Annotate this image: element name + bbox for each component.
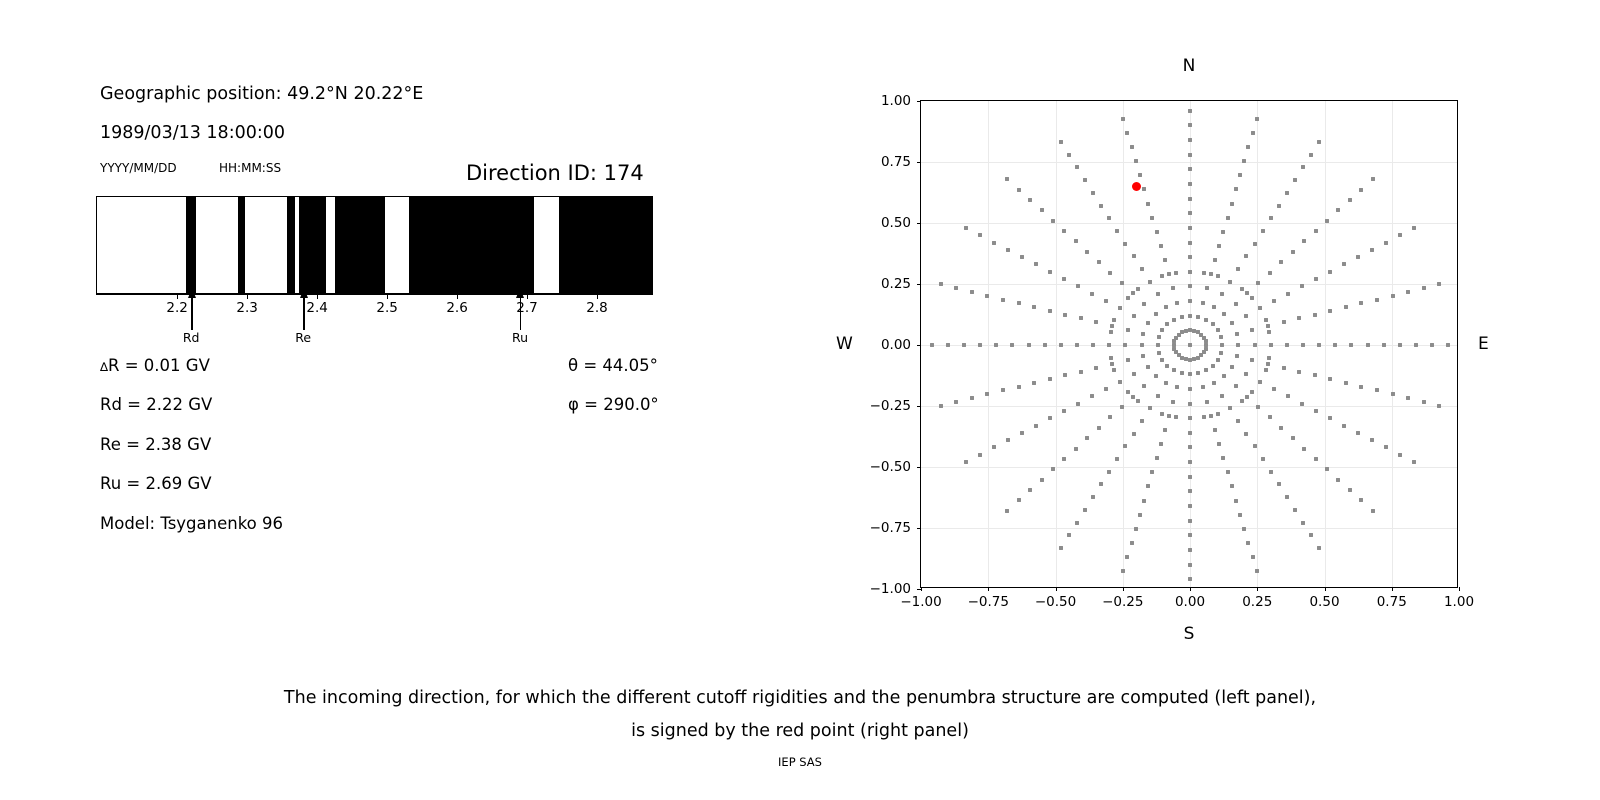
caption-line-1: The incoming direction, for which the di… xyxy=(0,682,1600,715)
direction-point xyxy=(1333,343,1337,347)
direction-point xyxy=(1134,159,1138,163)
direction-point xyxy=(1051,219,1055,223)
direction-point xyxy=(1141,332,1145,336)
direction-point xyxy=(1118,306,1122,310)
footer-credit: IEP SAS xyxy=(0,755,1600,769)
direction-point xyxy=(1142,302,1146,306)
direction-point xyxy=(1063,373,1067,377)
direction-point xyxy=(1264,368,1268,372)
y-axis-tick-label: −0.75 xyxy=(870,520,911,536)
direction-point xyxy=(1184,357,1188,361)
direction-point xyxy=(1005,177,1009,181)
y-axis-tick xyxy=(917,223,921,224)
direction-point xyxy=(1109,356,1113,360)
direction-point xyxy=(1366,343,1370,347)
direction-point xyxy=(1126,296,1130,300)
direction-point xyxy=(1156,343,1160,347)
direction-point xyxy=(1221,456,1225,460)
direction-point xyxy=(1115,229,1119,233)
direction-id-label: Direction ID: 174 xyxy=(466,161,644,185)
direction-point xyxy=(1269,216,1273,220)
penumbra-forbidden-band xyxy=(559,197,653,293)
direction-point xyxy=(1267,330,1271,334)
direction-point xyxy=(1230,484,1234,488)
direction-point xyxy=(1317,546,1321,550)
direction-point xyxy=(978,343,982,347)
direction-point xyxy=(1090,394,1094,398)
direction-point xyxy=(1132,432,1136,436)
direction-point xyxy=(1184,329,1188,333)
direction-point xyxy=(1156,394,1160,398)
direction-point xyxy=(1297,316,1301,320)
direction-point xyxy=(1091,495,1095,499)
axis-tick xyxy=(177,294,178,299)
y-axis-tick-label: 0.75 xyxy=(881,154,911,170)
direction-point xyxy=(1422,286,1426,290)
direction-point xyxy=(1167,272,1171,276)
direction-point xyxy=(1258,380,1262,384)
direction-point xyxy=(1371,177,1375,181)
direction-point xyxy=(1255,569,1259,573)
direction-point xyxy=(1437,404,1441,408)
theta-readout: θ = 44.05° xyxy=(568,356,658,375)
direction-point xyxy=(1261,229,1265,233)
direction-point xyxy=(1172,368,1176,372)
direction-point xyxy=(1226,470,1230,474)
figure-caption: The incoming direction, for which the di… xyxy=(0,682,1600,748)
direction-point xyxy=(1188,358,1192,362)
direction-point xyxy=(1212,305,1216,309)
axis-tick xyxy=(597,294,598,299)
direction-point xyxy=(1010,343,1014,347)
direction-point xyxy=(1314,457,1318,461)
direction-point xyxy=(1188,445,1192,449)
y-axis-tick-label: 0.00 xyxy=(881,337,911,353)
direction-point xyxy=(1261,457,1265,461)
direction-point xyxy=(1160,412,1164,416)
selected-direction-point[interactable] xyxy=(1132,182,1141,191)
direction-point xyxy=(1097,260,1101,264)
direction-point xyxy=(1240,287,1244,291)
direction-point xyxy=(1219,351,1223,355)
direction-point xyxy=(1205,400,1209,404)
direction-point xyxy=(1017,498,1021,502)
direction-point xyxy=(1136,287,1140,291)
direction-scatter-plot: −1.00−0.75−0.50−0.250.000.250.500.751.00… xyxy=(920,100,1458,588)
direction-point xyxy=(1371,509,1375,513)
direction-point xyxy=(1091,343,1095,347)
direction-point xyxy=(1251,131,1255,135)
y-axis-tick xyxy=(917,101,921,102)
direction-point xyxy=(1359,385,1363,389)
direction-point xyxy=(962,343,966,347)
direction-point xyxy=(1140,419,1144,423)
direction-point xyxy=(1126,328,1130,332)
axis-tick-label: 2.3 xyxy=(236,300,257,316)
direction-point xyxy=(1301,521,1305,525)
x-axis-tick-label: −0.50 xyxy=(1035,594,1076,610)
direction-point xyxy=(1188,182,1192,186)
direction-point xyxy=(1313,373,1317,377)
direction-point xyxy=(1192,357,1196,361)
direction-point xyxy=(1216,274,1220,278)
geographic-position-label: Geographic position: 49.2°N 20.22°E xyxy=(100,84,423,104)
direction-point xyxy=(1062,457,1066,461)
direction-point xyxy=(1148,280,1152,284)
direction-point xyxy=(1430,343,1434,347)
direction-point xyxy=(1172,347,1176,351)
date-format-hint: YYYY/MM/DD xyxy=(100,161,177,175)
datetime-label: 1989/03/13 18:00:00 xyxy=(100,123,285,143)
direction-point xyxy=(1062,229,1066,233)
x-axis-tick-label: 0.00 xyxy=(1175,594,1205,610)
direction-point xyxy=(1188,372,1192,376)
direction-point xyxy=(1285,495,1289,499)
x-axis-tick xyxy=(1392,587,1393,591)
direction-point xyxy=(1314,409,1318,413)
y-axis-tick-label: −1.00 xyxy=(870,581,911,597)
direction-point xyxy=(1188,519,1192,523)
direction-point xyxy=(964,226,968,230)
gridline-horizontal xyxy=(921,223,1457,224)
penumbra-bar xyxy=(96,196,653,294)
direction-point xyxy=(1006,438,1010,442)
direction-point xyxy=(1165,364,1169,368)
direction-point xyxy=(1188,167,1192,171)
direction-point xyxy=(1006,248,1010,252)
direction-point xyxy=(1132,372,1136,376)
gridline-vertical xyxy=(1325,101,1326,587)
direction-point xyxy=(1174,415,1178,419)
penumbra-forbidden-band xyxy=(186,197,196,293)
compass-east-label: E xyxy=(1478,334,1489,354)
direction-point xyxy=(1188,123,1192,127)
gridline-vertical xyxy=(1392,101,1393,587)
ru-readout: Ru = 2.69 GV xyxy=(100,474,212,493)
direction-point xyxy=(1094,320,1098,324)
direction-point xyxy=(1027,343,1031,347)
direction-point xyxy=(1211,364,1215,368)
direction-point xyxy=(1412,226,1416,230)
direction-point xyxy=(1017,301,1021,305)
direction-point xyxy=(1121,569,1125,573)
direction-point xyxy=(954,286,958,290)
direction-point xyxy=(1221,230,1225,234)
direction-point xyxy=(994,343,998,347)
direction-point xyxy=(1146,321,1150,325)
direction-point xyxy=(1180,315,1184,319)
direction-point xyxy=(1211,322,1215,326)
direction-point xyxy=(1076,284,1080,288)
time-format-hint: HH:MM:SS xyxy=(219,161,281,175)
gridline-vertical xyxy=(1056,101,1057,587)
direction-point xyxy=(1300,284,1304,288)
arrow-shaft xyxy=(303,296,304,330)
direction-point xyxy=(1285,343,1289,347)
direction-point xyxy=(1048,377,1052,381)
direction-point xyxy=(1188,475,1192,479)
direction-point xyxy=(1228,280,1232,284)
direction-point xyxy=(1059,546,1063,550)
delta-r-readout: ∆R = 0.01 GV xyxy=(100,356,210,375)
direction-point xyxy=(1134,527,1138,531)
direction-point xyxy=(1205,286,1209,290)
direction-point xyxy=(1155,456,1159,460)
direction-point xyxy=(1130,145,1134,149)
penumbra-forbidden-band xyxy=(409,197,534,293)
direction-point xyxy=(1342,262,1346,266)
direction-point xyxy=(1336,208,1340,212)
direction-point xyxy=(1048,416,1052,420)
direction-point xyxy=(1110,362,1114,366)
direction-point xyxy=(1253,343,1257,347)
direction-point xyxy=(1142,187,1146,191)
direction-point xyxy=(1220,394,1224,398)
direction-point xyxy=(1293,178,1297,182)
penumbra-forbidden-band xyxy=(287,197,295,293)
direction-point xyxy=(1164,305,1168,309)
x-axis-tick-label: 0.75 xyxy=(1377,594,1407,610)
direction-point xyxy=(1302,239,1306,243)
direction-point xyxy=(1142,499,1146,503)
direction-point xyxy=(1188,460,1192,464)
penumbra-forbidden-band xyxy=(335,197,385,293)
direction-point xyxy=(1272,299,1276,303)
direction-point xyxy=(1157,335,1161,339)
direction-point xyxy=(1146,202,1150,206)
axis-tick-label: 2.8 xyxy=(586,300,607,316)
direction-point xyxy=(1245,291,1249,295)
direction-point xyxy=(1236,419,1240,423)
gridline-vertical xyxy=(1257,101,1258,587)
direction-point xyxy=(1238,513,1242,517)
direction-point xyxy=(1309,153,1313,157)
direction-point xyxy=(1251,555,1255,559)
direction-point xyxy=(954,400,958,404)
direction-point xyxy=(1115,457,1119,461)
axis-tick-label: 2.4 xyxy=(306,300,327,316)
direction-point xyxy=(1212,381,1216,385)
direction-point xyxy=(1217,244,1221,248)
direction-point xyxy=(1359,301,1363,305)
direction-point xyxy=(1222,312,1226,316)
axis-tick xyxy=(387,294,388,299)
direction-point xyxy=(1382,343,1386,347)
direction-point xyxy=(1277,204,1281,208)
y-axis-tick xyxy=(917,528,921,529)
direction-point xyxy=(1348,198,1352,202)
direction-point xyxy=(1126,390,1130,394)
direction-point xyxy=(1422,400,1426,404)
direction-point xyxy=(1216,412,1220,416)
direction-point xyxy=(1091,191,1095,195)
direction-point xyxy=(1264,318,1268,322)
delta-r-value: R = 0.01 GV xyxy=(108,356,210,375)
direction-point xyxy=(1344,305,1348,309)
arrow-up-icon xyxy=(188,288,196,298)
direction-point xyxy=(1174,350,1178,354)
direction-point xyxy=(1020,431,1024,435)
direction-point xyxy=(985,392,989,396)
axis-tick-label: 2.6 xyxy=(446,300,467,316)
direction-point xyxy=(1032,305,1036,309)
x-axis-tick xyxy=(921,587,922,591)
direction-point xyxy=(1282,320,1286,324)
direction-point xyxy=(1268,415,1272,419)
direction-point xyxy=(1234,187,1238,191)
marker-label: Rd xyxy=(183,330,200,345)
direction-point xyxy=(1108,415,1112,419)
direction-point xyxy=(1272,387,1276,391)
direction-point xyxy=(1172,339,1176,343)
direction-point xyxy=(1188,402,1192,406)
direction-point xyxy=(1043,343,1047,347)
direction-point xyxy=(1188,533,1192,537)
direction-point xyxy=(1269,343,1273,347)
direction-point xyxy=(939,404,943,408)
direction-point xyxy=(1097,426,1101,430)
direction-point xyxy=(1107,470,1111,474)
direction-point xyxy=(1222,374,1226,378)
direction-point xyxy=(1160,328,1164,332)
direction-point xyxy=(1375,388,1379,392)
direction-point xyxy=(1226,216,1230,220)
direction-point xyxy=(1293,508,1297,512)
direction-point xyxy=(1246,145,1250,149)
direction-point xyxy=(1132,314,1136,318)
phi-readout: φ = 290.0° xyxy=(568,395,659,414)
direction-point xyxy=(1188,577,1192,581)
direction-point xyxy=(1123,444,1127,448)
direction-point xyxy=(1209,414,1213,418)
direction-point xyxy=(964,460,968,464)
direction-point xyxy=(1325,219,1329,223)
direction-point xyxy=(1356,255,1360,259)
direction-point xyxy=(1370,248,1374,252)
direction-point xyxy=(1314,277,1318,281)
direction-point xyxy=(1219,335,1223,339)
direction-point xyxy=(1141,354,1145,358)
direction-point xyxy=(1291,436,1295,440)
direction-point xyxy=(1175,301,1179,305)
direction-point xyxy=(1075,165,1079,169)
direction-point xyxy=(1406,396,1410,400)
direction-point xyxy=(1279,260,1283,264)
direction-point xyxy=(1256,281,1260,285)
marker-label: Ru xyxy=(512,330,528,345)
direction-point xyxy=(1291,250,1295,254)
direction-point xyxy=(1125,555,1129,559)
direction-point xyxy=(1075,343,1079,347)
x-axis-tick xyxy=(1190,587,1191,591)
direction-point xyxy=(1160,358,1164,362)
direction-point xyxy=(1146,365,1150,369)
direction-point xyxy=(1253,242,1257,246)
direction-point xyxy=(1067,533,1071,537)
direction-point xyxy=(1059,343,1063,347)
direction-point xyxy=(1040,208,1044,212)
direction-point xyxy=(1048,270,1052,274)
direction-point xyxy=(1188,138,1192,142)
direction-point xyxy=(1244,314,1248,318)
direction-point xyxy=(1108,271,1112,275)
direction-point xyxy=(1154,312,1158,316)
direction-point xyxy=(1001,388,1005,392)
direction-point xyxy=(1188,387,1192,391)
x-axis-tick xyxy=(1056,587,1057,591)
direction-point xyxy=(1171,286,1175,290)
penumbra-axis: 2.22.32.42.52.62.72.8RdReRu xyxy=(96,294,653,350)
x-axis-tick xyxy=(1257,587,1258,591)
direction-point xyxy=(1266,324,1270,328)
direction-point xyxy=(1236,343,1240,347)
direction-point xyxy=(1167,414,1171,418)
direction-point xyxy=(1159,442,1163,446)
y-axis-tick xyxy=(917,162,921,163)
direction-point xyxy=(1120,281,1124,285)
caption-line-2: is signed by the red point (right panel) xyxy=(0,715,1600,748)
direction-point xyxy=(1342,424,1346,428)
direction-point xyxy=(1286,394,1290,398)
direction-point xyxy=(1051,467,1055,471)
direction-point xyxy=(1028,488,1032,492)
direction-point xyxy=(1446,343,1450,347)
direction-point xyxy=(985,294,989,298)
direction-point xyxy=(1253,444,1257,448)
direction-point xyxy=(1297,370,1301,374)
direction-point xyxy=(1032,381,1036,385)
direction-point xyxy=(1188,563,1192,567)
direction-point xyxy=(1279,426,1283,430)
direction-point xyxy=(1398,453,1402,457)
direction-point xyxy=(1174,271,1178,275)
y-axis-tick xyxy=(917,467,921,468)
direction-point xyxy=(970,290,974,294)
direction-point xyxy=(1130,541,1134,545)
y-axis-tick xyxy=(917,345,921,346)
direction-point xyxy=(1266,362,1270,366)
direction-point xyxy=(1301,343,1305,347)
direction-point xyxy=(1317,343,1321,347)
direction-point xyxy=(1201,301,1205,305)
direction-point xyxy=(1001,298,1005,302)
gridline-horizontal xyxy=(921,406,1457,407)
direction-point xyxy=(1209,272,1213,276)
direction-point xyxy=(939,282,943,286)
direction-point xyxy=(1230,202,1234,206)
direction-point xyxy=(1250,296,1254,300)
direction-point xyxy=(1255,117,1259,121)
direction-point xyxy=(1244,372,1248,376)
direction-point xyxy=(1146,484,1150,488)
direction-point xyxy=(1213,258,1217,262)
direction-point xyxy=(1048,309,1052,313)
direction-point xyxy=(1325,467,1329,471)
direction-point xyxy=(1204,368,1208,372)
gridline-horizontal xyxy=(921,528,1457,529)
direction-point xyxy=(1067,153,1071,157)
direction-point xyxy=(1384,241,1388,245)
direction-point xyxy=(1414,343,1418,347)
direction-point xyxy=(1188,109,1192,113)
direction-point xyxy=(1062,277,1066,281)
direction-point xyxy=(1301,165,1305,169)
x-axis-tick-label: −0.75 xyxy=(968,594,1009,610)
direction-point xyxy=(1348,488,1352,492)
direction-point xyxy=(1104,299,1108,303)
direction-point xyxy=(1079,316,1083,320)
direction-point xyxy=(1107,343,1111,347)
